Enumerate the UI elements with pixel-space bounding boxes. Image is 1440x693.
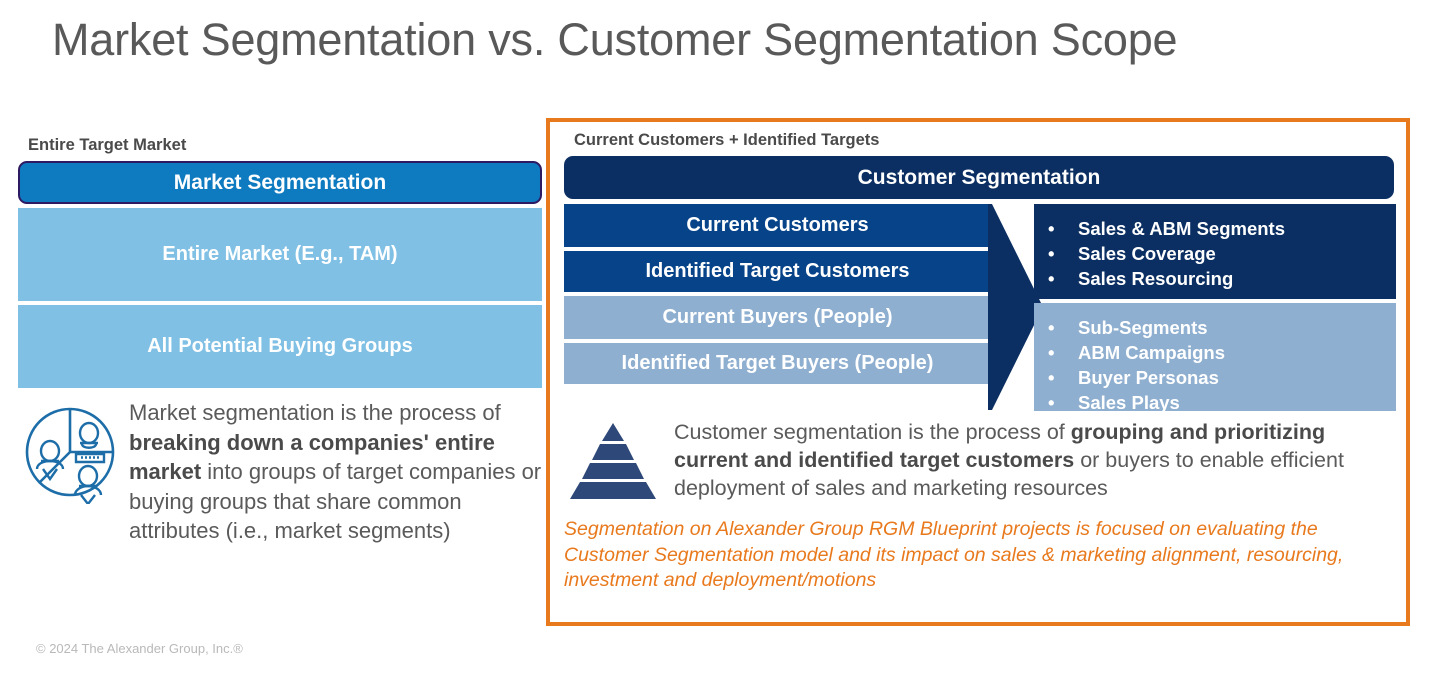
left-panel-caption: Entire Target Market [28,136,542,155]
block-identified-target-customers[interactable]: Identified Target Customers [564,251,991,292]
customer-block-column: Current Customers Identified Target Cust… [564,204,991,388]
left-description-text: Market segmentation is the process of br… [129,398,542,546]
bullet-dot-icon: • [1048,390,1078,415]
block-identified-target-buyers[interactable]: Identified Target Buyers (People) [564,343,991,384]
segmented-audience-circle-icon [18,400,122,504]
bullet-dot-icon: • [1048,241,1078,266]
right-description-row: Customer segmentation is the process of … [564,418,1394,503]
market-segmentation-header[interactable]: Market Segmentation [18,161,542,204]
block-current-buyers[interactable]: Current Buyers (People) [564,296,991,339]
bullet-label: Sales Resourcing [1078,266,1233,291]
block-current-customers[interactable]: Current Customers [564,204,991,247]
bullet-label: Sales Coverage [1078,241,1216,266]
customer-segmentation-header[interactable]: Customer Segmentation [564,156,1394,199]
list-item: •Sales & ABM Segments [1048,216,1386,241]
bullet-dot-icon: • [1048,216,1078,241]
right-description-text: Customer segmentation is the process of … [674,418,1394,502]
right-desc-part1: Customer segmentation is the process of [674,420,1071,444]
page-title: Market Segmentation vs. Customer Segment… [52,14,1177,66]
list-item: •Sub-Segments [1048,315,1386,340]
left-desc-part1: Market segmentation is the process of [129,400,501,425]
list-item: •Sales Plays [1048,390,1386,415]
pyramid-icon [564,421,662,503]
list-item: •ABM Campaigns [1048,340,1386,365]
segmentation-matrix: Current Customers Identified Target Cust… [564,204,1394,410]
list-item: •Sales Coverage [1048,241,1386,266]
customer-segmentation-panel: Current Customers + Identified Targets C… [546,118,1410,626]
band-entire-market[interactable]: Entire Market (E.g., TAM) [18,208,542,301]
outputs-column: •Sales & ABM Segments •Sales Coverage •S… [1034,204,1396,415]
bullet-dot-icon: • [1048,340,1078,365]
bullet-label: Sub-Segments [1078,315,1208,340]
band-all-potential-buying-groups[interactable]: All Potential Buying Groups [18,305,542,388]
bullet-label: Sales Plays [1078,390,1180,415]
bullet-dot-icon: • [1048,266,1078,291]
orange-note-text: Segmentation on Alexander Group RGM Blue… [564,517,1394,594]
left-description-row: Market segmentation is the process of br… [18,398,542,546]
bullet-dot-icon: • [1048,365,1078,390]
bullet-dot-icon: • [1048,315,1078,340]
bullet-label: Buyer Personas [1078,365,1219,390]
bullet-label: Sales & ABM Segments [1078,216,1285,241]
right-panel-caption: Current Customers + Identified Targets [574,131,1394,150]
bullet-group-subsegments[interactable]: •Sub-Segments •ABM Campaigns •Buyer Pers… [1034,303,1396,411]
market-segmentation-panel: Entire Target Market Market Segmentation… [18,136,542,546]
bullet-label: ABM Campaigns [1078,340,1225,365]
footer-copyright: © 2024 The Alexander Group, Inc.® [36,641,243,656]
list-item: •Sales Resourcing [1048,266,1386,291]
list-item: •Buyer Personas [1048,365,1386,390]
bullet-group-sales[interactable]: •Sales & ABM Segments •Sales Coverage •S… [1034,204,1396,299]
